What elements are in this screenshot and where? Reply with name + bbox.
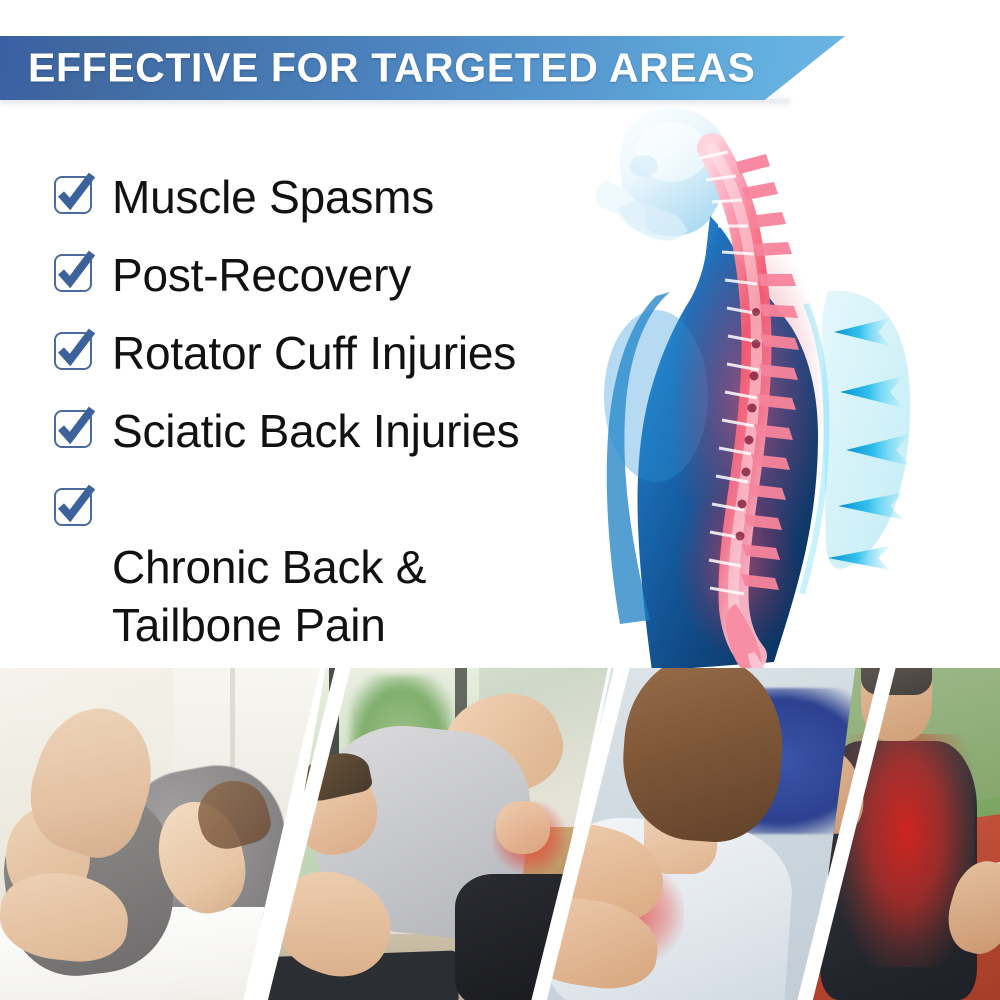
banner-shadow: [0, 99, 790, 106]
checkbox-checked-icon: [52, 174, 96, 218]
list-item-label-line1: Chronic Back &: [112, 541, 426, 593]
list-item-label: Sciatic Back Injuries: [112, 402, 519, 460]
header-banner: EFFECTIVE FOR TARGETED AREAS: [0, 36, 845, 100]
list-item-label: Muscle Spasms: [112, 168, 434, 226]
list-item: Muscle Spasms: [52, 168, 612, 226]
list-item: Post-Recovery: [52, 246, 612, 304]
checkbox-checked-icon: [52, 330, 96, 374]
list-item-label: Chronic Back & Tailbone Pain: [112, 480, 426, 712]
infographic-page: EFFECTIVE FOR TARGETED AREAS Muscle Spas…: [0, 0, 1000, 1000]
list-item: Chronic Back & Tailbone Pain: [52, 480, 612, 712]
benefits-checklist: Muscle Spasms Post-Recovery Rotator Cuff…: [52, 168, 612, 712]
checkbox-checked-icon: [52, 408, 96, 452]
list-item: Rotator Cuff Injuries: [52, 324, 612, 382]
checkbox-checked-icon: [52, 252, 96, 296]
checkbox-checked-icon: [52, 486, 96, 530]
banner-title: EFFECTIVE FOR TARGETED AREAS: [28, 45, 756, 92]
list-item-label: Post-Recovery: [112, 246, 411, 304]
list-item-label: Rotator Cuff Injuries: [112, 324, 516, 382]
spine-illustration: [560, 96, 1000, 671]
photo-strip: [0, 668, 1000, 1000]
list-item: Sciatic Back Injuries: [52, 402, 612, 460]
list-item-label-line2: Tailbone Pain: [112, 596, 426, 654]
